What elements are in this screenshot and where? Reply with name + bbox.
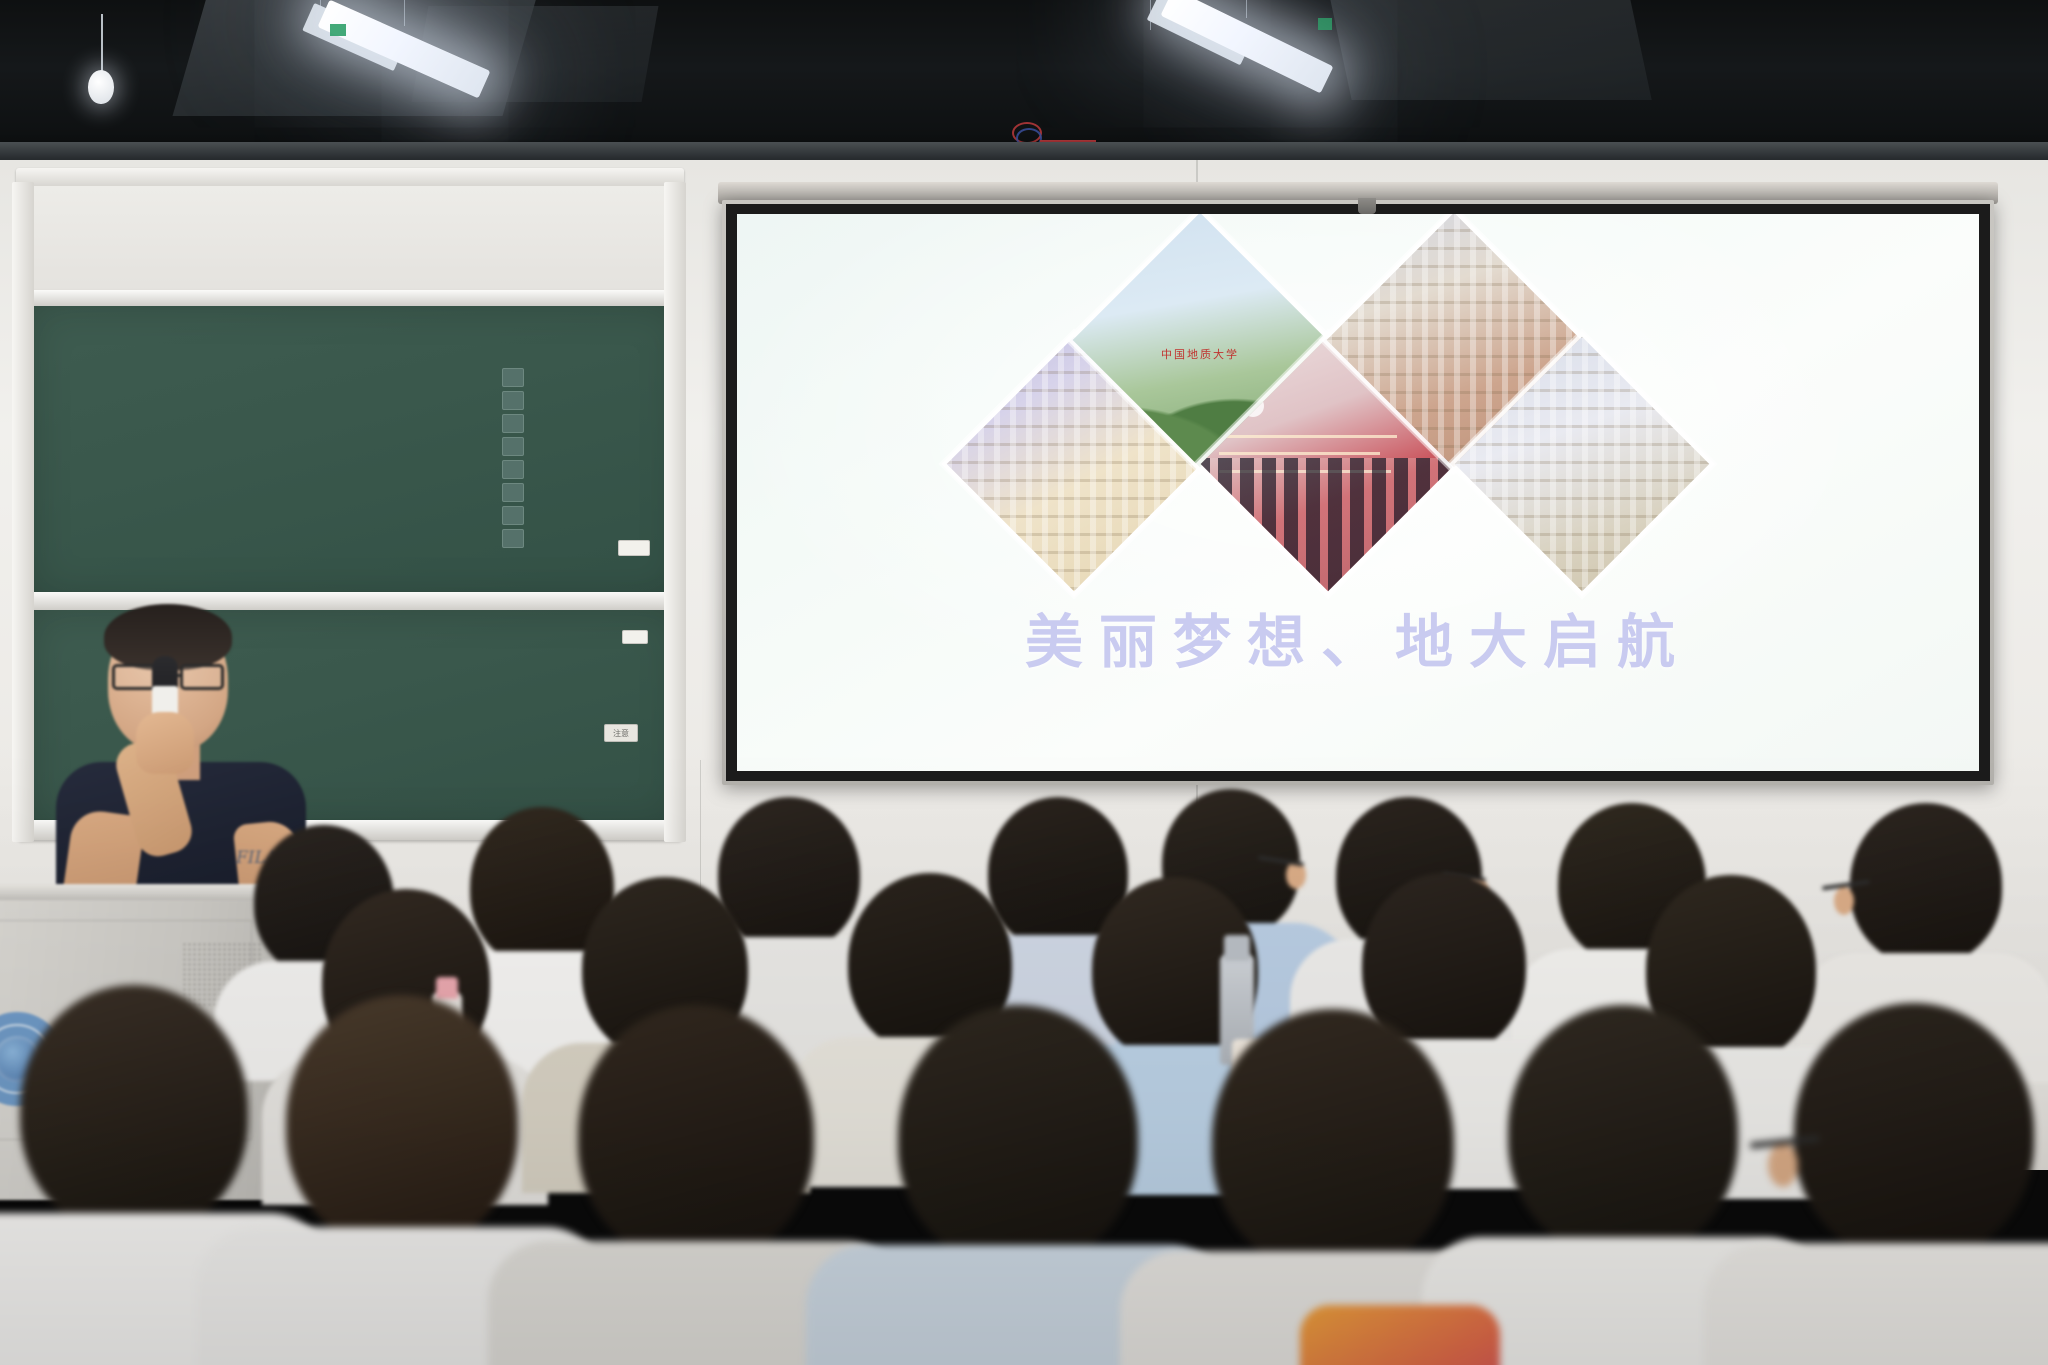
blackboard-label-sticker xyxy=(618,540,650,556)
ceiling xyxy=(0,0,2048,168)
pendant-cord xyxy=(101,14,103,76)
green-indicator-light xyxy=(330,24,346,36)
blackboard-warning-label: 注意 xyxy=(604,724,638,742)
pendant-bulb-icon xyxy=(88,70,114,104)
slide-title: 美丽梦想、地大启航 xyxy=(737,595,1979,679)
audience-shading xyxy=(0,745,2048,1365)
blackboard-left-post xyxy=(12,182,34,842)
blackboard-upper-panel xyxy=(26,186,686,296)
classroom-photo-scene: 注意 中国地质大学 xyxy=(0,0,2048,1365)
slide-photo-collage: 中国地质大学 xyxy=(978,274,1738,559)
green-indicator-light-right xyxy=(1318,18,1332,30)
board-arrow-up-icon[interactable] xyxy=(502,437,524,456)
projection-screen: 中国地质大学 xyxy=(722,200,1994,785)
light-suspension-wire xyxy=(1246,0,1247,18)
projection-screen-surface: 中国地质大学 xyxy=(737,214,1979,771)
board-lock-icon[interactable] xyxy=(502,391,524,410)
campus-gate-caption: 中国地质大学 xyxy=(1067,346,1333,362)
blackboard-rail-top xyxy=(18,290,682,306)
light-suspension-wire xyxy=(404,0,405,26)
blackboard-control-strip[interactable] xyxy=(498,368,528,548)
blackboard-panel-upper xyxy=(32,306,678,596)
board-marker-icon[interactable] xyxy=(502,483,524,502)
board-light-icon[interactable] xyxy=(502,414,524,433)
board-power-icon[interactable] xyxy=(502,529,524,548)
blackboard-rail-middle xyxy=(18,592,682,610)
screen-center-clip xyxy=(1358,198,1376,214)
banner-text-line xyxy=(1219,435,1398,438)
glasses-left-lens xyxy=(112,664,156,690)
glasses-right-lens xyxy=(180,664,224,690)
ceiling-duct-panel-right xyxy=(1328,0,1651,100)
blackboard-top-frame xyxy=(16,168,684,186)
board-arrow-down-icon[interactable] xyxy=(502,460,524,479)
ceiling-light-right xyxy=(1160,0,1333,93)
board-slide-icon[interactable] xyxy=(502,368,524,387)
blackboard-right-post xyxy=(664,182,686,842)
board-eraser-icon[interactable] xyxy=(502,506,524,525)
audience xyxy=(0,745,2048,1365)
projection-screen-bezel: 中国地质大学 xyxy=(726,204,1990,781)
blackboard-label-sticker xyxy=(622,630,648,644)
banner-text-line xyxy=(1219,452,1380,455)
